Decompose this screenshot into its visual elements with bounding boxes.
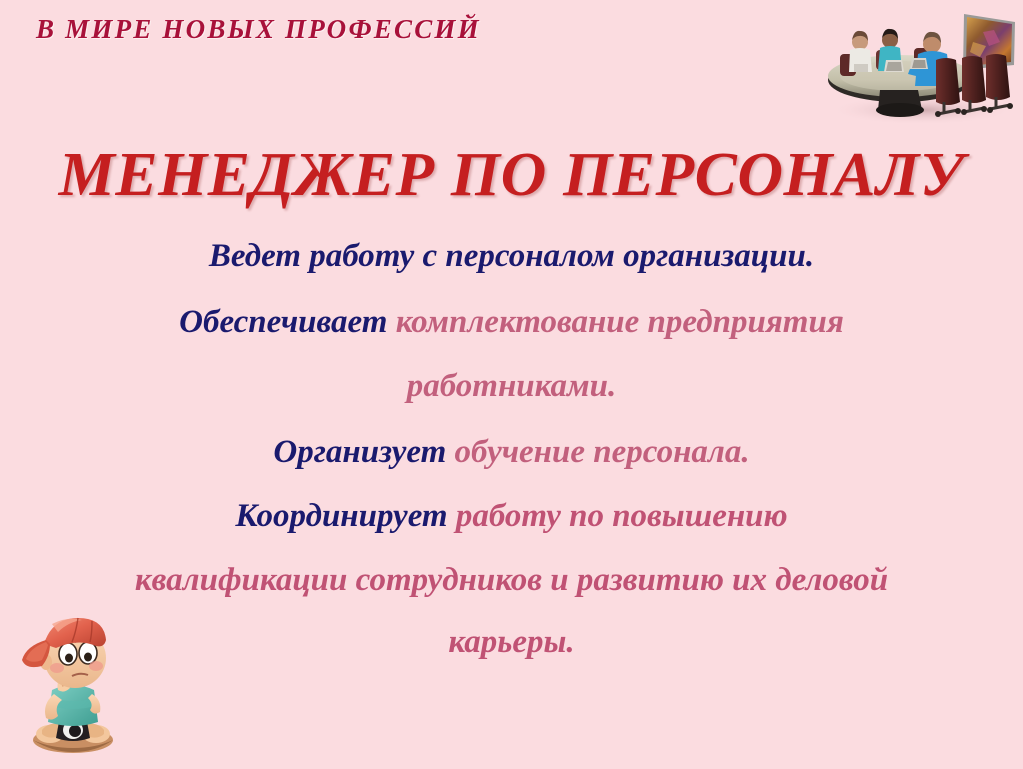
- boardroom-meeting-illustration: [818, 2, 1020, 126]
- body-line-3-segment-1: работниками.: [407, 368, 617, 404]
- slide-body-text: Ведет работу с персоналом организации. О…: [30, 228, 993, 670]
- body-line-2-segment-1: Обеспечивает: [179, 304, 396, 340]
- body-line-7-segment-1: карьеры.: [448, 624, 574, 660]
- body-line-4: Организует обучение персонала.: [30, 424, 993, 480]
- body-line-6: квалификации сотрудников и развитию их д…: [30, 552, 993, 608]
- body-line-5: Координирует работу по повышению: [30, 488, 993, 544]
- body-line-4-segment-2: обучение персонала.: [455, 434, 750, 470]
- slide-header-text: В МИРЕ НОВЫХ ПРОФЕССИЙ: [36, 14, 481, 45]
- thinking-boy-illustration: [12, 612, 134, 764]
- body-line-5-segment-1: Координирует: [235, 498, 455, 534]
- body-line-2: Обеспечивает комплектование предприятия: [30, 294, 993, 350]
- slide-title: МЕНЕДЖЕР ПО ПЕРСОНАЛУ: [0, 140, 1023, 211]
- body-line-1: Ведет работу с персоналом организации.: [30, 228, 993, 284]
- body-line-5-segment-2: работу по повышению: [456, 498, 788, 534]
- body-line-1-segment-1: Ведет работу с персоналом организации.: [209, 238, 814, 274]
- presentation-slide: В МИРЕ НОВЫХ ПРОФЕССИЙ: [0, 0, 1023, 767]
- body-line-6-segment-1: квалификации сотрудников и развитию их д…: [135, 562, 888, 598]
- body-line-4-segment-1: Организует: [273, 434, 454, 470]
- body-line-2-segment-2: комплектование предприятия: [396, 304, 844, 340]
- body-line-7: карьеры.: [30, 614, 993, 670]
- body-line-3: работниками.: [30, 358, 993, 414]
